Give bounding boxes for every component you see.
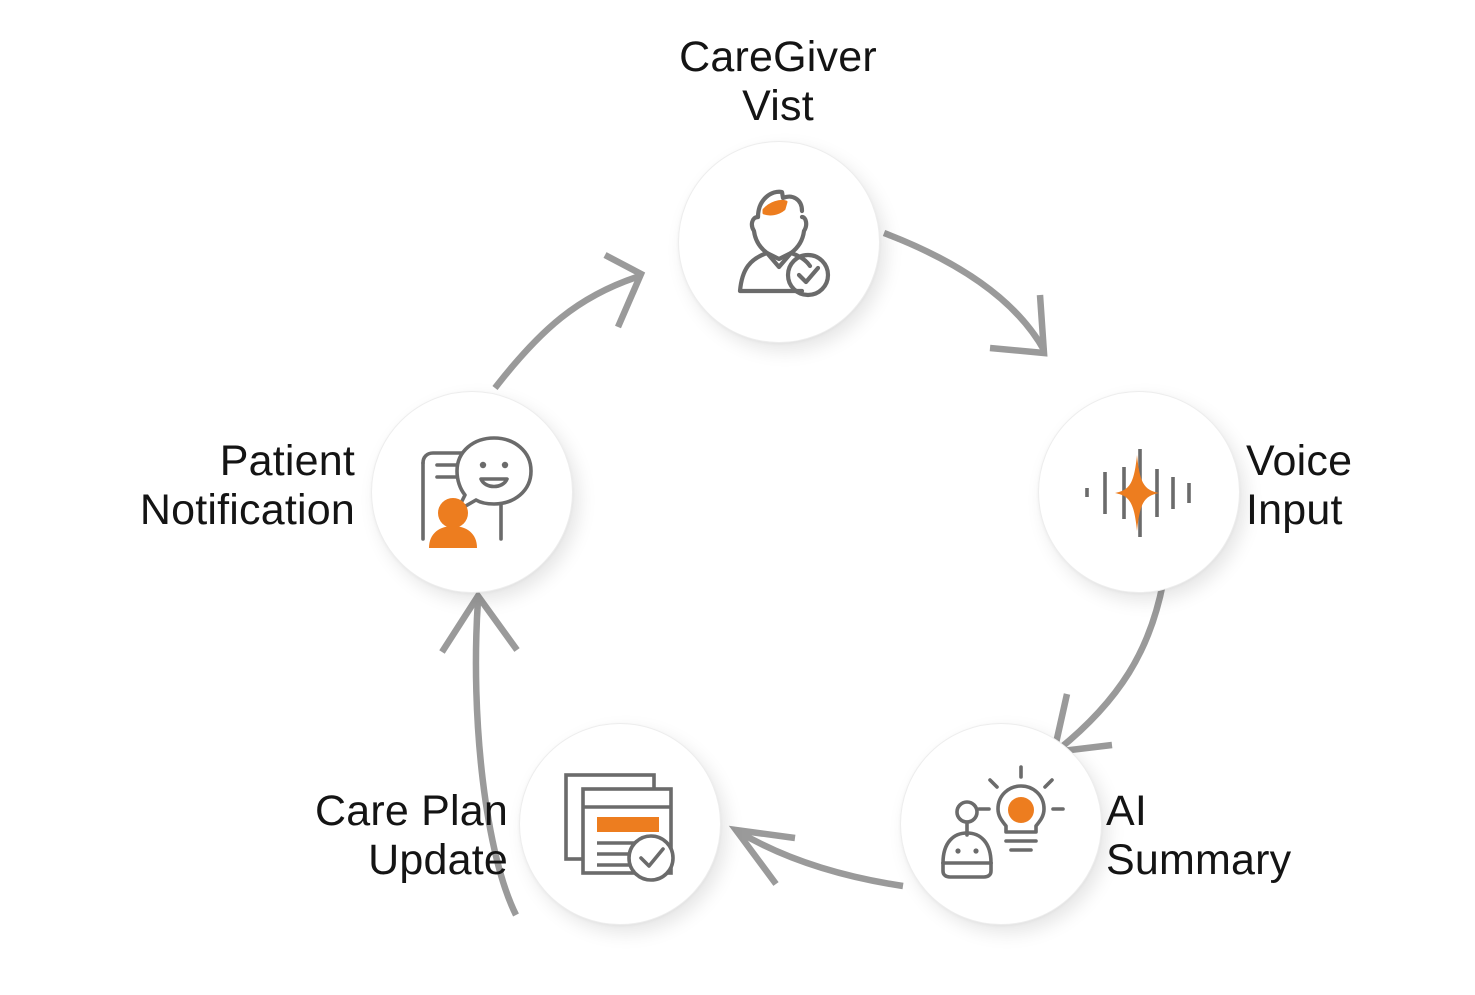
- arrow-ai-to-careplan: [736, 830, 903, 886]
- node-care-plan-update[interactable]: [519, 723, 721, 925]
- voice-waveform-sparkle-icon: [1074, 427, 1204, 557]
- sparkle-shape: [1115, 455, 1159, 531]
- arrow-caregiver-to-voice: [884, 233, 1044, 353]
- node-voice-input[interactable]: [1038, 391, 1240, 593]
- node-caregiver-visit[interactable]: [678, 141, 880, 343]
- node-ai-summary[interactable]: [900, 723, 1102, 925]
- arrow-notification-to-caregiver: [495, 255, 641, 388]
- documents-check-icon: [555, 759, 685, 889]
- arrow-voice-to-ai: [1054, 583, 1163, 752]
- highlight-bar: [597, 817, 659, 832]
- label-voice-input: Voice Input: [1246, 437, 1466, 535]
- bulb-core: [1008, 797, 1034, 823]
- node-patient-notification[interactable]: [371, 391, 573, 593]
- person-body: [429, 526, 477, 548]
- label-ai-summary: AI Summary: [1106, 787, 1406, 885]
- label-patient-notification: Patient Notification: [30, 437, 355, 535]
- diagram-canvas: CareGiver Vist Voice Input: [0, 0, 1475, 995]
- person-head: [438, 498, 468, 528]
- robot-lightbulb-icon: [936, 759, 1066, 889]
- phone-chat-person-icon: [407, 427, 537, 557]
- caregiver-person-check-icon: [714, 177, 844, 307]
- label-caregiver-visit: CareGiver Vist: [578, 33, 978, 131]
- label-care-plan-update: Care Plan Update: [198, 787, 508, 885]
